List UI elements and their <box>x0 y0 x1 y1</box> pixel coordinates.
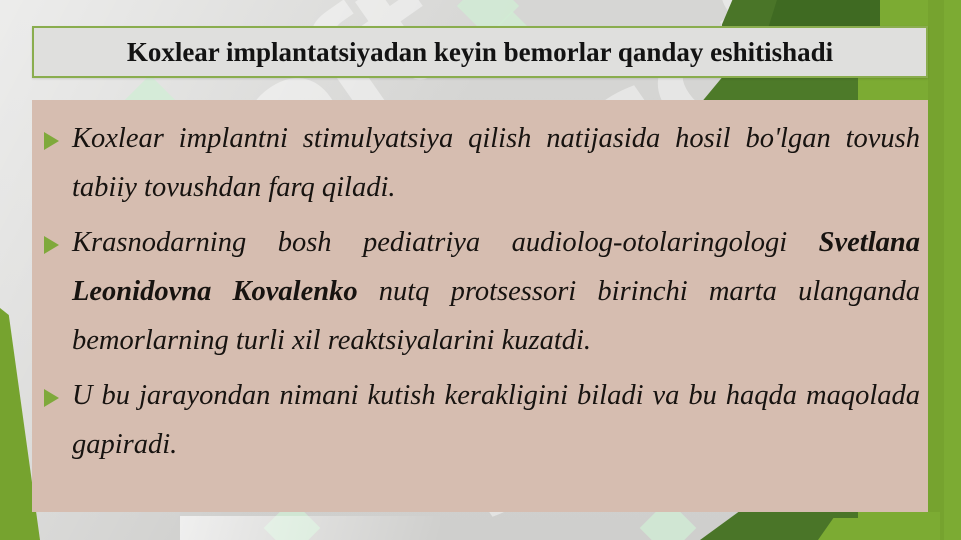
decor-bottom-left-streak <box>180 516 440 540</box>
triangle-bullet-icon <box>44 132 59 150</box>
list-item-text-before-bold: Krasnodarning bosh pediatriya audiolog-o… <box>72 227 819 258</box>
list-item: Krasnodarning bosh pediatriya audiolog-o… <box>36 218 920 365</box>
slide-content-box: Koxlear implantni stimulyatsiya qilish n… <box>32 100 928 512</box>
decor-right-edge-band-inner <box>944 0 961 540</box>
decor-bottom-right-light-band <box>858 512 940 540</box>
list-item: Koxlear implantni stimulyatsiya qilish n… <box>36 114 920 212</box>
page-title: Koxlear implantatsiyadan keyin bemorlar … <box>127 37 833 68</box>
triangle-bullet-icon <box>44 236 59 254</box>
slide-title-box: Koxlear implantatsiyadan keyin bemorlar … <box>32 26 928 78</box>
bullet-list: Koxlear implantni stimulyatsiya qilish n… <box>36 114 920 469</box>
list-item: U bu jarayondan nimani kutish kerakligin… <box>36 371 920 469</box>
slide-canvas: soft soft soft soft Koxlear implantatsiy… <box>0 0 961 540</box>
list-item-label: Krasnodarning bosh pediatriya audiolog-o… <box>72 218 920 365</box>
list-item-label: Koxlear implantni stimulyatsiya qilish n… <box>72 114 920 212</box>
list-item-label: U bu jarayondan nimani kutish kerakligin… <box>72 371 920 469</box>
triangle-bullet-icon <box>44 389 59 407</box>
